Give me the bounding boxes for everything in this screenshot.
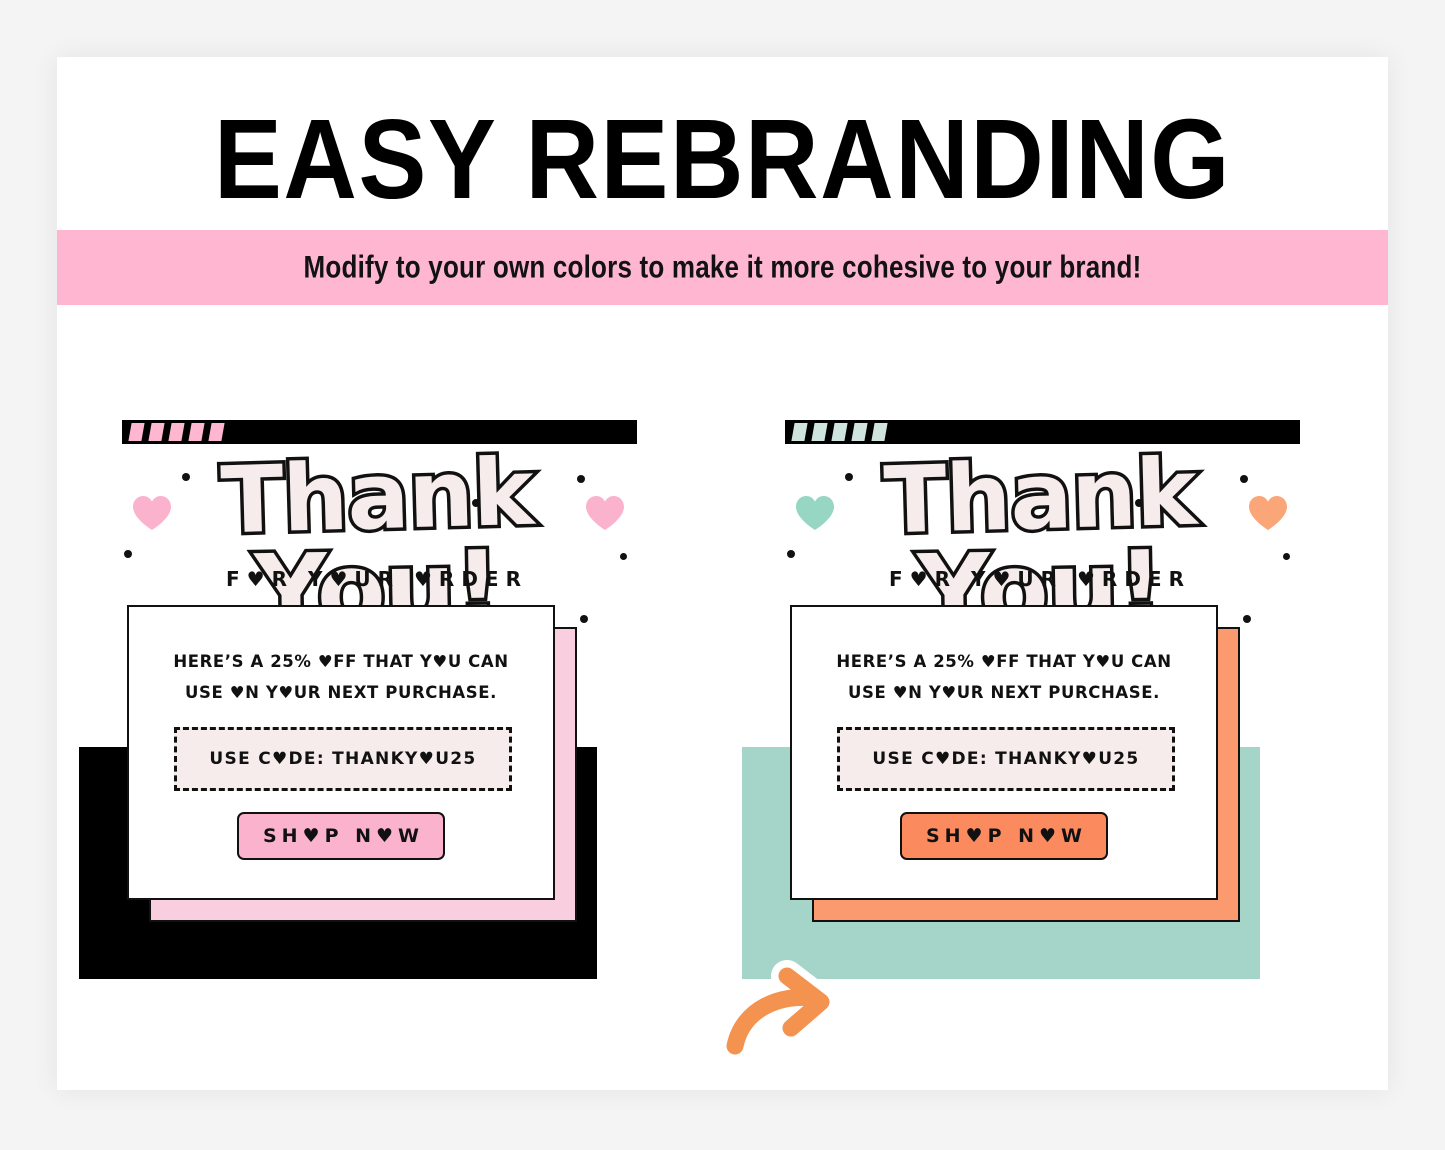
- stripe-group: [793, 423, 886, 441]
- stripe: [811, 423, 827, 441]
- confetti-dot: [620, 553, 627, 560]
- page-title: EASY REBRANDING: [17, 103, 1428, 216]
- confetti-dot: [472, 499, 480, 507]
- coupon-card[interactable]: HERE’S A 25% ♥FF THAT Y♥U CAN USE ♥N Y♥U…: [790, 605, 1218, 900]
- card-topbar: [122, 420, 637, 444]
- stripe: [871, 423, 887, 441]
- stripe: [148, 423, 164, 441]
- subtitle-text: Modify to your own colors to make it mor…: [304, 249, 1142, 286]
- offer-line-2: USE ♥N Y♥UR NEXT PURCHASE.: [129, 678, 553, 709]
- confetti-dot: [1135, 499, 1143, 507]
- shop-now-label: SH♥P N♥W: [921, 825, 1087, 847]
- confetti-dot: [787, 550, 795, 558]
- confetti-dot: [577, 475, 585, 483]
- coupon-card[interactable]: HERE’S A 25% ♥FF THAT Y♥U CAN USE ♥N Y♥U…: [127, 605, 555, 900]
- offer-line-2: USE ♥N Y♥UR NEXT PURCHASE.: [792, 678, 1216, 709]
- confetti-dot: [182, 473, 190, 481]
- offer-line-1: HERE’S A 25% ♥FF THAT Y♥U CAN: [792, 647, 1216, 678]
- heart-left-icon: [132, 495, 172, 531]
- promo-code-box[interactable]: USE C♥DE: THANKY♥U25: [837, 727, 1175, 791]
- stripe: [851, 423, 867, 441]
- thank-you-card-pink[interactable]: Thank You! F♥R Y♥UR ♥RDER HERE’S A 25% ♥…: [77, 305, 677, 1090]
- coupon-card-stack: HERE’S A 25% ♥FF THAT Y♥U CAN USE ♥N Y♥U…: [77, 605, 677, 1025]
- shop-now-button[interactable]: SH♥P N♥W: [237, 812, 445, 860]
- stripe: [188, 423, 204, 441]
- offer-text: HERE’S A 25% ♥FF THAT Y♥U CAN USE ♥N Y♥U…: [129, 647, 553, 708]
- stripe: [168, 423, 184, 441]
- screenshot-root: EASY REBRANDING Modify to your own color…: [0, 0, 1445, 1150]
- stripe: [208, 423, 224, 441]
- shop-now-label: SH♥P N♥W: [258, 825, 424, 847]
- card-topbar: [785, 420, 1300, 444]
- stripe: [128, 423, 144, 441]
- shop-now-button[interactable]: SH♥P N♥W: [900, 812, 1108, 860]
- heart-right-icon: [585, 495, 625, 531]
- offer-text: HERE’S A 25% ♥FF THAT Y♥U CAN USE ♥N Y♥U…: [792, 647, 1216, 708]
- for-your-order-text: F♥R Y♥UR ♥RDER: [77, 567, 677, 591]
- heart-left-icon: [795, 495, 835, 531]
- heart-right-icon: [1248, 495, 1288, 531]
- confetti-dot: [845, 473, 853, 481]
- promo-code-text: USE C♥DE: THANKY♥U25: [872, 749, 1139, 769]
- card-comparison-area: Thank You! F♥R Y♥UR ♥RDER HERE’S A 25% ♥…: [57, 305, 1388, 1090]
- confetti-dot: [1283, 553, 1290, 560]
- promo-code-text: USE C♥DE: THANKY♥U25: [209, 749, 476, 769]
- curved-arrow-right-icon: [721, 958, 851, 1068]
- stripe: [791, 423, 807, 441]
- subtitle-banner: Modify to your own colors to make it mor…: [57, 230, 1388, 305]
- stripe-group: [130, 423, 223, 441]
- stripe: [831, 423, 847, 441]
- confetti-dot: [124, 550, 132, 558]
- confetti-dot: [1240, 475, 1248, 483]
- content-panel: EASY REBRANDING Modify to your own color…: [57, 57, 1388, 1090]
- offer-line-1: HERE’S A 25% ♥FF THAT Y♥U CAN: [129, 647, 553, 678]
- for-your-order-text: F♥R Y♥UR ♥RDER: [740, 567, 1340, 591]
- promo-code-box[interactable]: USE C♥DE: THANKY♥U25: [174, 727, 512, 791]
